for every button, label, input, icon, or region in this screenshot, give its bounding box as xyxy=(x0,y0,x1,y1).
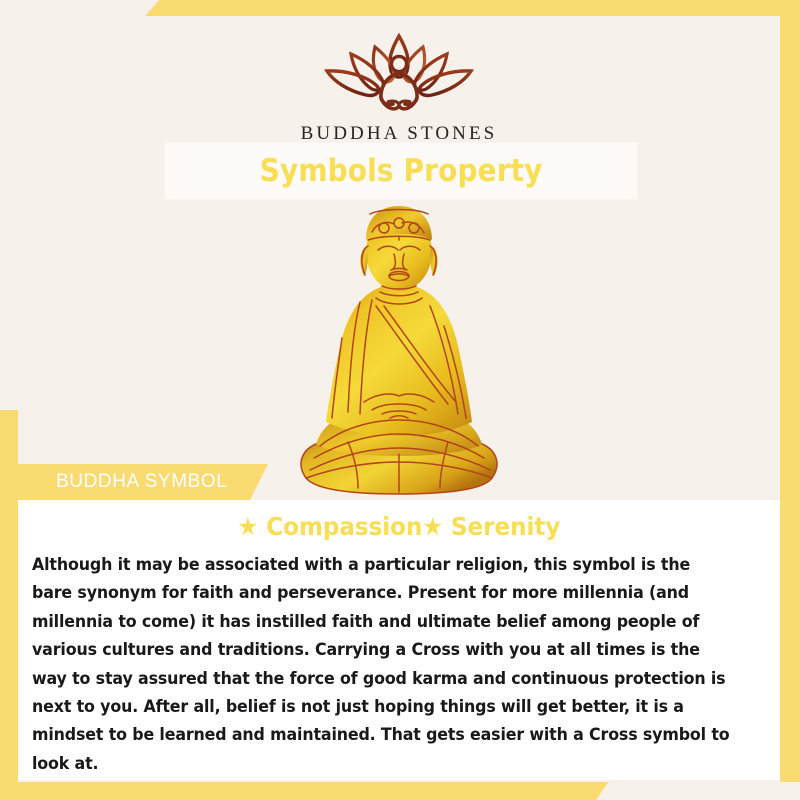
buddha-symbol-tag: BUDDHA SYMBOL xyxy=(18,464,268,500)
frame-bottom-accent xyxy=(0,780,610,800)
poster-root: BUDDHA STONES Symbols Property xyxy=(0,0,800,800)
lotus-meditation-figure-icon xyxy=(315,30,483,118)
card-headline: ★ Compassion★ Serenity xyxy=(48,500,749,541)
golden-buddha-statue-icon xyxy=(272,206,527,506)
brand-wordmark: BUDDHA STONES xyxy=(301,123,498,145)
title-band: Symbols Property xyxy=(165,143,637,199)
hero-illustration xyxy=(18,196,780,506)
frame-top-accent xyxy=(145,0,800,16)
frame-right-accent xyxy=(780,0,800,782)
frame-left-accent xyxy=(0,410,18,800)
content-card: ★ Compassion★ Serenity Although it may b… xyxy=(18,500,780,780)
card-body-text: Although it may be associated with a par… xyxy=(32,551,733,778)
page-title: Symbols Property xyxy=(260,153,543,189)
brand-logo: BUDDHA STONES xyxy=(18,30,780,145)
buddha-symbol-tag-label: BUDDHA SYMBOL xyxy=(56,471,227,493)
